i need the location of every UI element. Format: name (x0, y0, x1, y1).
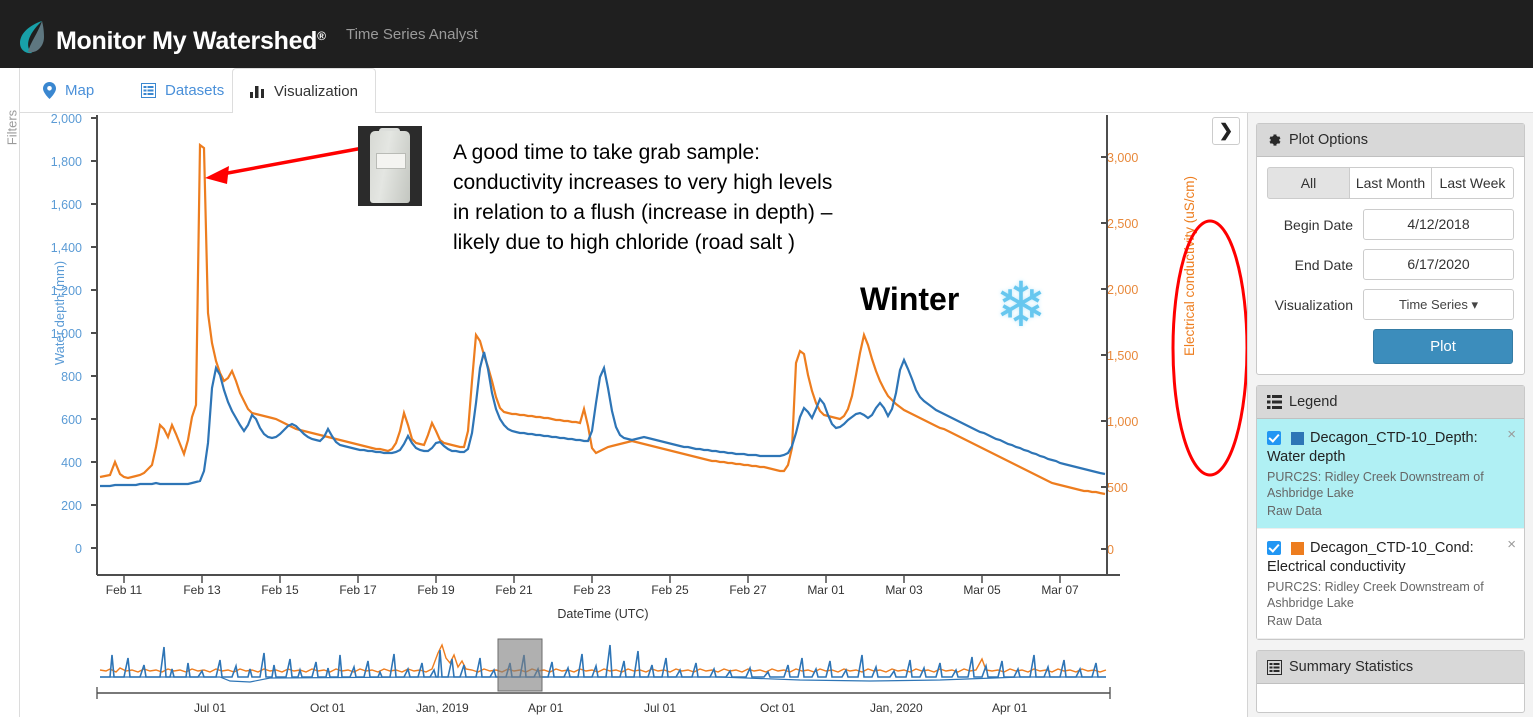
chevron-down-icon: ▾ (1471, 297, 1478, 312)
summary-statistics-header[interactable]: Summary Statistics (1257, 651, 1524, 684)
x-tick-1: Feb 13 (172, 583, 232, 597)
legend-depth-site: PURC2S: Ridley Creek Downstream of Ashbr… (1267, 469, 1498, 501)
app-header: Monitor My Watershed ® Time Series Analy… (0, 0, 1533, 68)
legend-conductivity-site: PURC2S: Ridley Creek Downstream of Ashbr… (1267, 579, 1498, 611)
x-tick-2: Feb 15 (250, 583, 310, 597)
nav-tick-0: Jul 01 (194, 701, 226, 715)
water-drop-leaf-logo (16, 19, 48, 55)
x-tick-4: Feb 19 (406, 583, 466, 597)
gear-icon (1267, 133, 1282, 148)
chevron-right-icon[interactable]: ❯ (1212, 117, 1240, 145)
legend-depth-quality: Raw Data (1267, 503, 1498, 519)
end-date-label: End Date (1267, 257, 1363, 273)
nav-tick-6: Jan, 2020 (870, 701, 923, 715)
tab-datasets-label: Datasets (165, 82, 224, 99)
tab-visualization-label: Visualization (274, 83, 358, 100)
callout-annotation-text: A good time to take grab sample: conduct… (453, 138, 853, 258)
snowflake-icon: ❄ (995, 275, 1047, 337)
visualization-row: Visualization Time Series ▾ (1267, 289, 1514, 320)
app-subtitle: Time Series Analyst (346, 26, 478, 43)
end-date-input[interactable]: 6/17/2020 (1363, 249, 1514, 280)
legend-conductivity-variable: Electrical conductivity (1267, 558, 1498, 577)
nav-tick-7: Apr 01 (992, 701, 1027, 715)
table-icon (1267, 660, 1282, 675)
nav-tick-4: Jul 01 (644, 701, 676, 715)
x-tick-12: Mar 07 (1030, 583, 1090, 597)
table-list-icon (141, 83, 156, 98)
bottle-label (376, 153, 406, 169)
brand-registered-mark: ® (317, 29, 326, 43)
x-tick-11: Mar 05 (952, 583, 1012, 597)
filters-rail-label: Filters (5, 88, 20, 168)
plot-options-body: All Last Month Last Week Begin Date 4/12… (1257, 157, 1524, 374)
x-tick-10: Mar 03 (874, 583, 934, 597)
tab-map[interactable]: Map (26, 68, 111, 113)
x-tick-7: Feb 25 (640, 583, 700, 597)
x-axis-label: DateTime (UTC) (503, 607, 703, 621)
legend-depth-name: Decagon_CTD-10_Depth: (1310, 428, 1498, 448)
main-tabstrip: Map Datasets Visualization (20, 68, 1533, 113)
x-tick-0: Feb 11 (94, 583, 154, 597)
brand-title: Monitor My Watershed (56, 27, 317, 56)
date-range-button-group: All Last Month Last Week (1267, 167, 1514, 199)
range-last-month-button[interactable]: Last Month (1350, 167, 1432, 199)
x-tick-6: Feb 23 (562, 583, 622, 597)
brand[interactable]: Monitor My Watershed ® (0, 13, 326, 56)
summary-statistics-body (1257, 684, 1524, 712)
map-pin-icon (43, 82, 56, 99)
begin-date-input[interactable]: 4/12/2018 (1363, 209, 1514, 240)
right-sidebar: Plot Options All Last Month Last Week Be… (1247, 113, 1533, 717)
filters-rail[interactable]: Filters (0, 68, 20, 717)
x-tick-5: Feb 21 (484, 583, 544, 597)
legend-remove-conductivity-button[interactable]: × (1507, 537, 1516, 552)
bar-chart-icon (250, 84, 265, 98)
visualization-label: Visualization (1267, 297, 1363, 313)
begin-date-row: Begin Date 4/12/2018 (1267, 209, 1514, 240)
x-tick-9: Mar 01 (796, 583, 856, 597)
legend-conductivity-quality: Raw Data (1267, 613, 1498, 629)
tab-visualization[interactable]: Visualization (232, 68, 376, 114)
range-all-button[interactable]: All (1267, 167, 1350, 199)
legend-item-conductivity[interactable]: × Decagon_CTD-10_Cond: Electrical conduc… (1257, 529, 1524, 639)
list-icon (1267, 395, 1282, 409)
legend-depth-color-swatch (1291, 432, 1304, 445)
nav-tick-3: Apr 01 (528, 701, 563, 715)
range-last-week-button[interactable]: Last Week (1432, 167, 1514, 199)
legend-remove-depth-button[interactable]: × (1507, 427, 1516, 442)
visualization-select[interactable]: Time Series ▾ (1363, 289, 1514, 320)
winter-annotation-label: Winter (860, 281, 959, 318)
begin-date-label: Begin Date (1267, 217, 1363, 233)
grab-sample-bottle-photo (358, 126, 422, 206)
nav-tick-5: Oct 01 (760, 701, 795, 715)
legend-conductivity-line1: Decagon_CTD-10_Cond: (1267, 538, 1498, 558)
summary-statistics-panel: Summary Statistics (1256, 650, 1525, 713)
legend-item-depth[interactable]: × Decagon_CTD-10_Depth: Water depth PURC… (1257, 419, 1524, 529)
legend-conductivity-color-swatch (1291, 542, 1304, 555)
end-date-row: End Date 6/17/2020 (1267, 249, 1514, 280)
nav-tick-2: Jan, 2019 (416, 701, 469, 715)
tab-map-label: Map (65, 82, 94, 99)
red-arrow-annotation (195, 140, 370, 200)
legend-conductivity-name: Decagon_CTD-10_Cond: (1310, 538, 1498, 558)
legend-panel: Legend × Decagon_CTD-10_Depth: Water dep… (1256, 385, 1525, 640)
nav-tick-1: Oct 01 (310, 701, 345, 715)
visualization-select-value: Time Series (1399, 297, 1468, 312)
plot-options-header: Plot Options (1257, 124, 1524, 157)
summary-statistics-title: Summary Statistics (1289, 659, 1413, 675)
x-tick-8: Feb 27 (718, 583, 778, 597)
legend-depth-line1: Decagon_CTD-10_Depth: (1267, 428, 1498, 448)
legend-conductivity-checkbox[interactable] (1267, 541, 1281, 555)
tab-datasets[interactable]: Datasets (124, 68, 241, 113)
legend-title: Legend (1289, 394, 1337, 410)
x-tick-3: Feb 17 (328, 583, 388, 597)
plot-options-title: Plot Options (1289, 132, 1368, 148)
legend-depth-checkbox[interactable] (1267, 431, 1281, 445)
legend-depth-variable: Water depth (1267, 448, 1498, 467)
plot-button[interactable]: Plot (1373, 329, 1513, 364)
plot-options-panel: Plot Options All Last Month Last Week Be… (1256, 123, 1525, 375)
legend-header: Legend (1257, 386, 1524, 419)
